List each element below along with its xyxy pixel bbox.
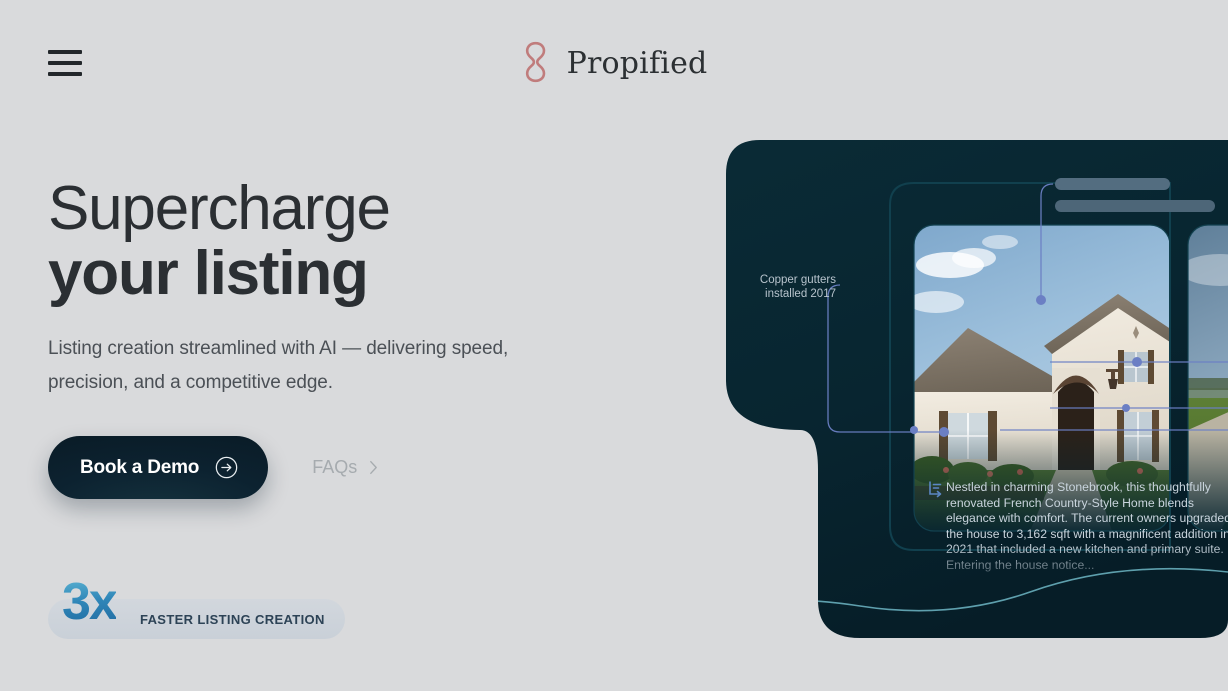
faqs-label: FAQs [312, 457, 357, 478]
brand-name: Propified [567, 46, 708, 81]
stat-badge: 3x FASTER LISTING CREATION [48, 599, 345, 639]
listing-description: Nestled in charming Stonebrook, this tho… [920, 480, 1228, 590]
headline-line-1: Supercharge [48, 176, 588, 241]
stat-label: FASTER LISTING CREATION [140, 612, 325, 627]
hero-subheadline: Listing creation streamlined with AI — d… [48, 332, 518, 400]
svg-text:Copper gutters: Copper gutters [760, 274, 836, 286]
listing-preview-graphic: Copper gutters installed 2017 Nestled in… [700, 130, 1228, 650]
site-header: Propified [0, 0, 1228, 126]
listing-description-text: Nestled in charming Stonebrook, this tho… [920, 480, 1228, 574]
hamburger-bar-1 [48, 50, 82, 54]
hero-copy-block: Supercharge your listing Listing creatio… [48, 176, 588, 499]
brand-logo[interactable]: Propified [521, 40, 708, 86]
book-a-demo-label: Book a Demo [80, 457, 199, 479]
visual-panel-body: Copper gutters installed 2017 Nestled in… [700, 130, 1228, 650]
hamburger-bar-3 [48, 72, 82, 76]
hamburger-bar-2 [48, 61, 82, 65]
book-a-demo-button[interactable]: Book a Demo [48, 436, 268, 499]
headline-line-2: your listing [48, 241, 588, 306]
stat-value: 3x [62, 576, 116, 628]
hero-visual-panel: Copper gutters installed 2017 Nestled in… [700, 130, 1228, 650]
cta-row: Book a Demo FAQs [48, 436, 588, 499]
chevron-right-icon [369, 460, 378, 475]
arrow-right-circle-icon [215, 456, 238, 479]
figure-eight-logo-icon [521, 40, 551, 86]
faqs-link[interactable]: FAQs [312, 457, 378, 478]
svg-text:installed 2017: installed 2017 [765, 288, 836, 300]
page-title: Supercharge your listing [48, 176, 588, 306]
hamburger-menu-icon[interactable] [48, 46, 82, 80]
